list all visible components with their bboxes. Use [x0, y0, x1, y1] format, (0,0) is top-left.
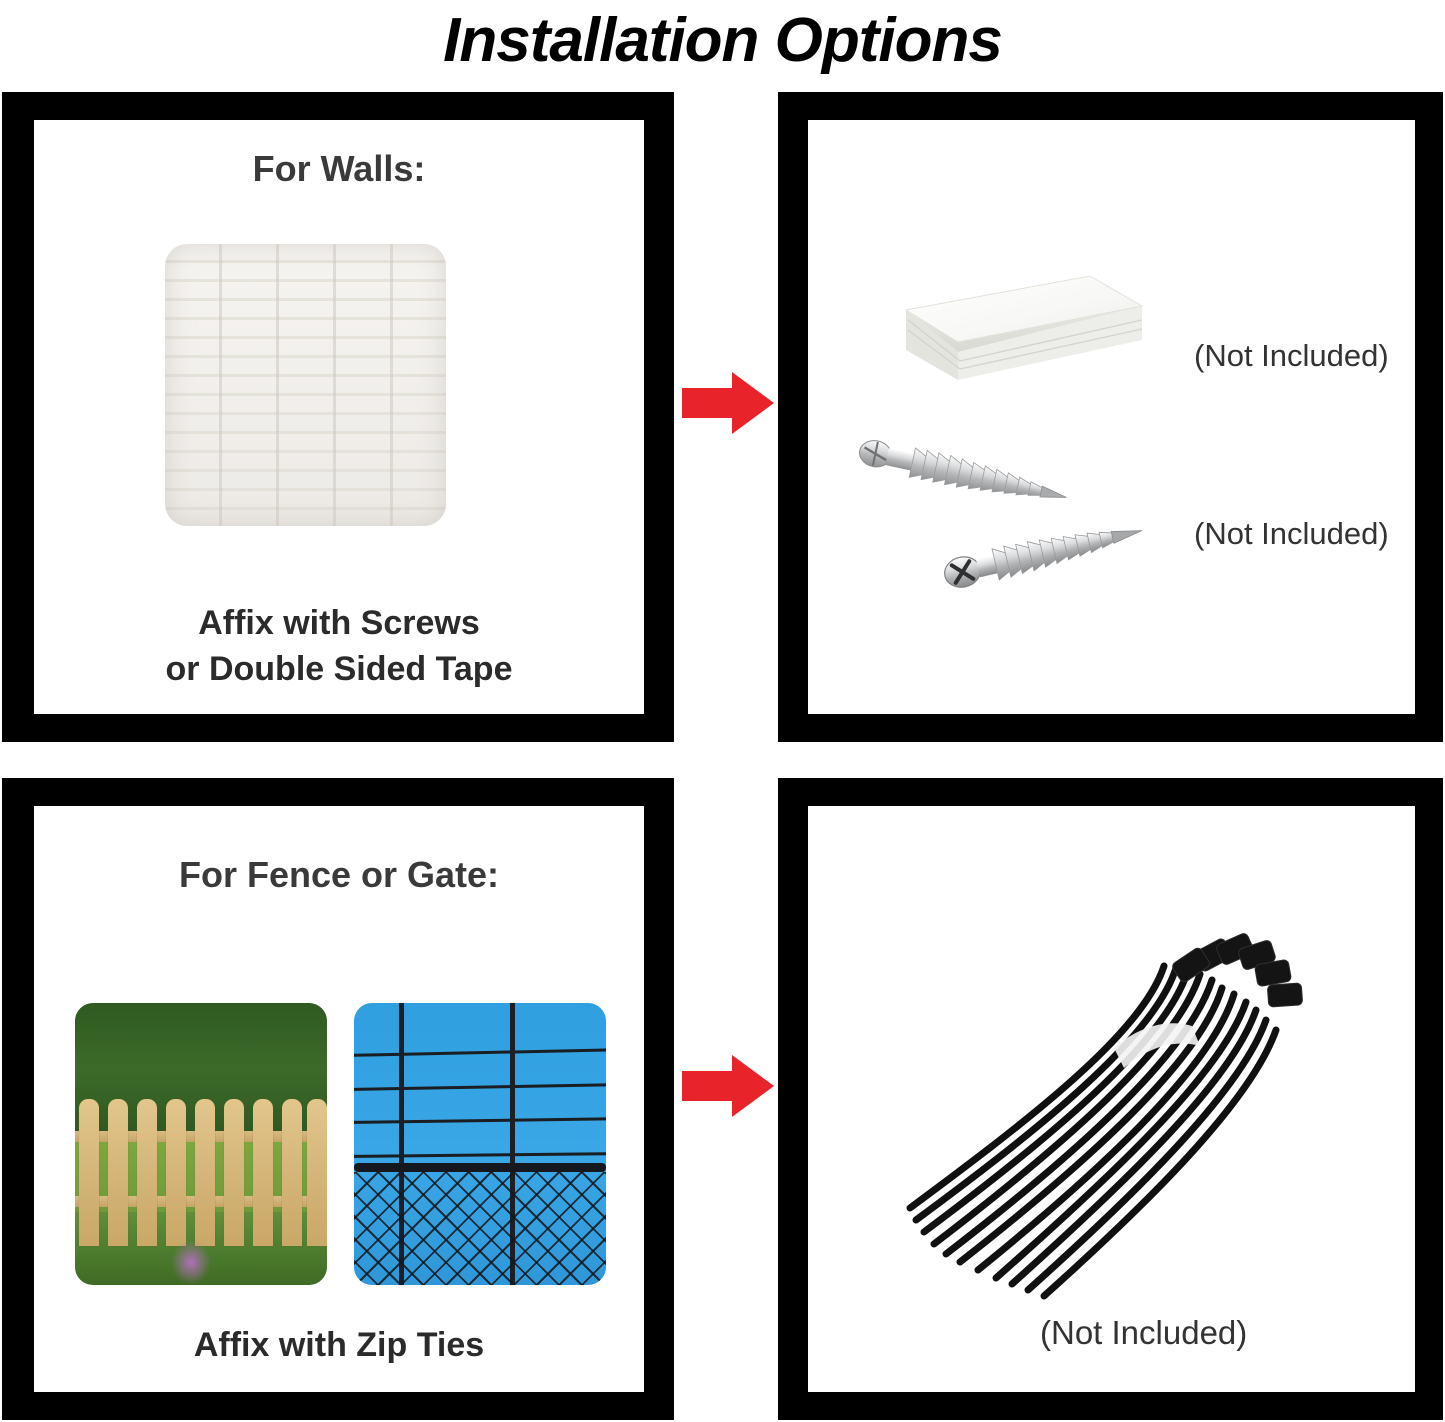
panel-caption-fence: Affix with Zip Ties [34, 1322, 644, 1368]
caption-line-2: or Double Sided Tape [34, 646, 644, 692]
panel-caption-walls: Affix with Screws or Double Sided Tape [34, 600, 644, 692]
panel-for-fence-content: For Fence or Gate: [34, 806, 644, 1392]
panel-for-fence-or-gate: For Fence or Gate: [2, 778, 674, 1420]
panel-for-walls-content: For Walls: Affix with Screws or Double S… [34, 120, 644, 714]
barbed-wire-fence-image [354, 1003, 606, 1285]
panel-zip-ties-content: (Not Included) [808, 806, 1415, 1392]
caption-line-1: Affix with Screws [34, 600, 644, 646]
panel-fasteners: (Not Included) [778, 92, 1443, 742]
tape-not-included-label: (Not Included) [1194, 338, 1389, 374]
page-title: Installation Options [0, 2, 1445, 80]
zip-ties-bundle-image [900, 910, 1330, 1310]
arrow-right-icon-bottom [682, 1053, 774, 1119]
panel-zip-ties: (Not Included) [778, 778, 1443, 1420]
wood-screw-image-2 [938, 510, 1178, 590]
zip-ties-not-included-label: (Not Included) [1040, 1314, 1247, 1352]
panel-for-walls: For Walls: Affix with Screws or Double S… [2, 92, 674, 742]
panel-heading-for-walls: For Walls: [34, 148, 644, 190]
panel-heading-for-fence: For Fence or Gate: [34, 854, 644, 896]
arrow-right-icon-top [682, 370, 774, 436]
panel-fasteners-content: (Not Included) [808, 120, 1415, 714]
picket-fence-image [75, 1003, 327, 1285]
installation-options-infographic: Installation Options For Walls: Affix wi… [0, 0, 1445, 1422]
screws-not-included-label: (Not Included) [1194, 516, 1389, 552]
wood-screw-image-1 [850, 440, 1090, 520]
double-sided-tape-image [894, 248, 1149, 408]
white-brick-wall-image [165, 244, 446, 526]
